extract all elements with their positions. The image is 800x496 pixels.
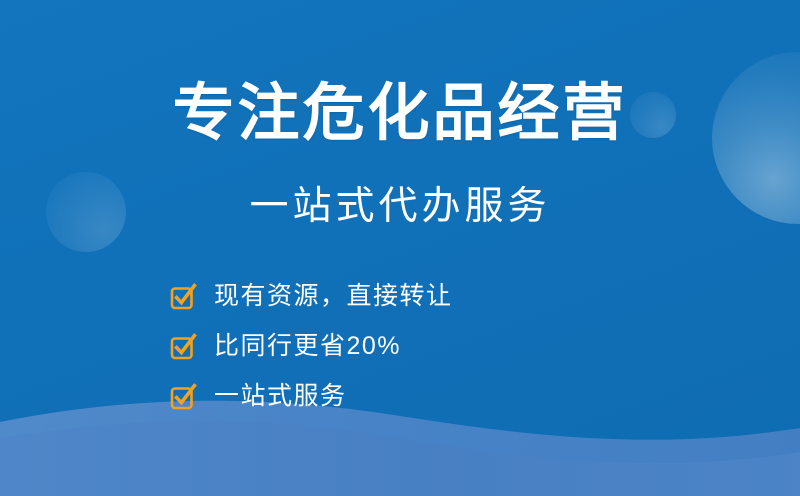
list-item: 比同行更省20% [170, 322, 590, 370]
checkbox-checked-icon [170, 283, 197, 310]
list-item: 现有资源，直接转让 [170, 272, 590, 320]
feature-list: 现有资源，直接转让 比同行更省20% 一站式 [170, 272, 590, 422]
subheadline: 一站式代办服务 [0, 183, 800, 231]
feature-label: 现有资源，直接转让 [214, 281, 453, 311]
banner-content: 专注危化品经营 一站式代办服务 现有资源，直接转让 [0, 0, 800, 496]
checkbox-checked-icon [170, 383, 197, 410]
feature-label: 比同行更省20% [214, 331, 401, 361]
checkbox-checked-icon [170, 333, 197, 360]
list-item: 一站式服务 [170, 372, 590, 420]
feature-label: 一站式服务 [214, 381, 347, 411]
promo-banner: 专注危化品经营 一站式代办服务 现有资源，直接转让 [0, 0, 800, 496]
headline: 专注危化品经营 [0, 79, 800, 149]
